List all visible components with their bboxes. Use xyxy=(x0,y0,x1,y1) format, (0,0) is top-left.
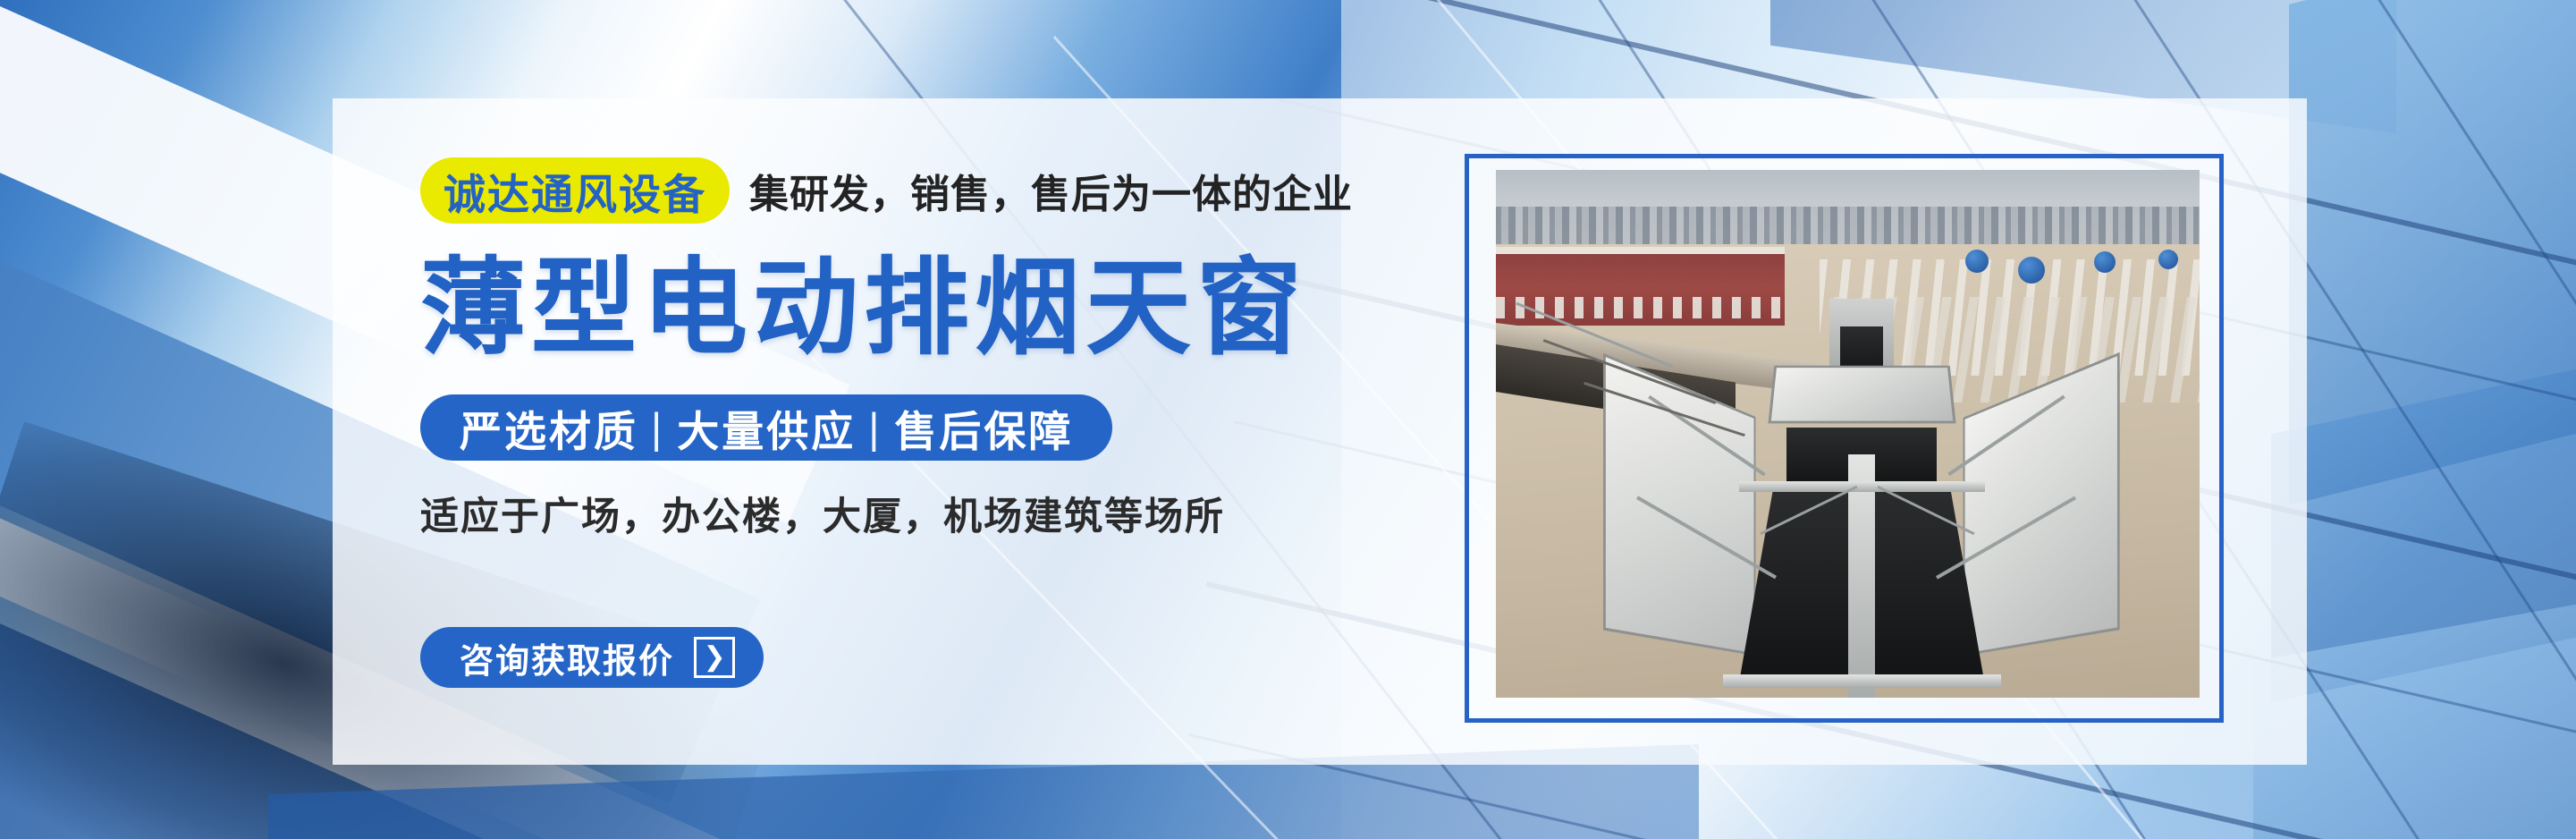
description-text: 适应于广场，办公楼，大厦，机场建筑等场所 xyxy=(420,486,1422,541)
promo-banner: 诚达通风设备 集研发，销售，售后为一体的企业 薄型电动排烟天窗 严选材质 | 大… xyxy=(0,0,2576,839)
feature-item-3: 售后保障 xyxy=(894,397,1073,459)
feature-highlight-pill: 严选材质 | 大量供应 | 售后保障 xyxy=(420,394,1112,461)
photo-roof-fan-3 xyxy=(2094,251,2116,273)
brand-name-pill: 诚达通风设备 xyxy=(420,157,730,224)
chevron-right-icon: ❯ xyxy=(694,637,735,678)
tagline-text: 集研发，销售，售后为一体的企业 xyxy=(749,162,1353,219)
text-column: 诚达通风设备 集研发，销售，售后为一体的企业 薄型电动排烟天窗 严选材质 | 大… xyxy=(420,152,1422,742)
photo-cross-beam-bottom xyxy=(1723,674,2001,688)
cta-row: 咨询获取报价 ❯ xyxy=(420,627,1422,688)
photo-city-skyline xyxy=(1496,207,2200,243)
photo-cross-beam-top xyxy=(1739,481,1985,491)
feature-separator-1: | xyxy=(638,403,677,453)
feature-item-1: 严选材质 xyxy=(460,397,638,459)
request-quote-label: 咨询获取报价 xyxy=(460,633,674,682)
photo-louver-right xyxy=(1964,352,2120,656)
feature-separator-2: | xyxy=(856,403,894,453)
tagline-row: 诚达通风设备 集研发，销售，售后为一体的企业 xyxy=(420,152,1422,229)
feature-item-2: 大量供应 xyxy=(677,397,856,459)
photo-roof-fan-4 xyxy=(2158,250,2178,269)
photo-louver-mid-top xyxy=(1768,366,1955,423)
photo-roof-fan-1 xyxy=(1965,250,1989,273)
photo-red-building-windows xyxy=(1496,297,1785,319)
request-quote-button[interactable]: 咨询获取报价 ❯ xyxy=(420,627,764,688)
product-photo xyxy=(1496,170,2200,698)
page-title: 薄型电动排烟天窗 xyxy=(420,247,1422,371)
